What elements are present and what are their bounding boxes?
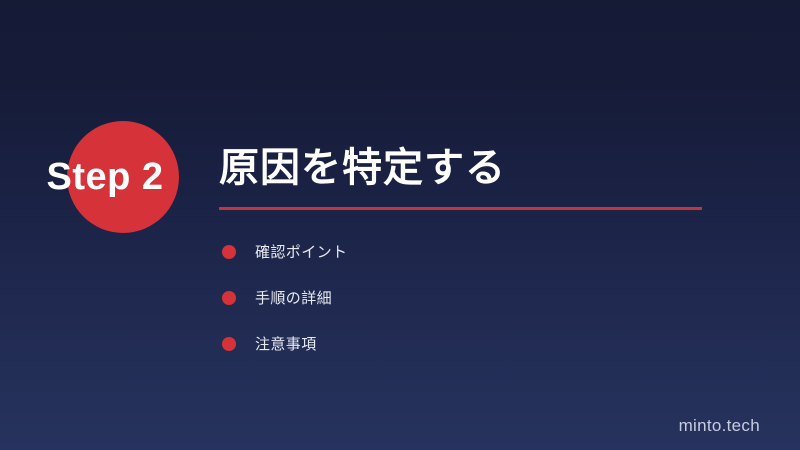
- bullet-dot-icon: [222, 245, 236, 259]
- slide-title: 原因を特定する: [219, 142, 739, 194]
- title-divider: [219, 207, 702, 210]
- list-item: 確認ポイント: [219, 229, 739, 275]
- step-badge: Step 2: [0, 115, 210, 240]
- slide-content: 原因を特定する 確認ポイント 手順の詳細 注意事項: [219, 142, 739, 367]
- step-label: Step 2: [0, 115, 210, 240]
- bullet-dot-icon: [222, 291, 236, 305]
- presentation-slide: Step 2 原因を特定する 確認ポイント 手順の詳細 注意事項 minto.t…: [0, 0, 800, 450]
- list-item-label: 手順の詳細: [255, 291, 332, 306]
- list-item-label: 確認ポイント: [255, 245, 347, 260]
- list-item: 注意事項: [219, 321, 739, 367]
- list-item-label: 注意事項: [255, 337, 317, 352]
- list-item: 手順の詳細: [219, 275, 739, 321]
- bullet-list: 確認ポイント 手順の詳細 注意事項: [219, 229, 739, 367]
- footer-brand: minto.tech: [679, 416, 760, 436]
- bullet-dot-icon: [222, 337, 236, 351]
